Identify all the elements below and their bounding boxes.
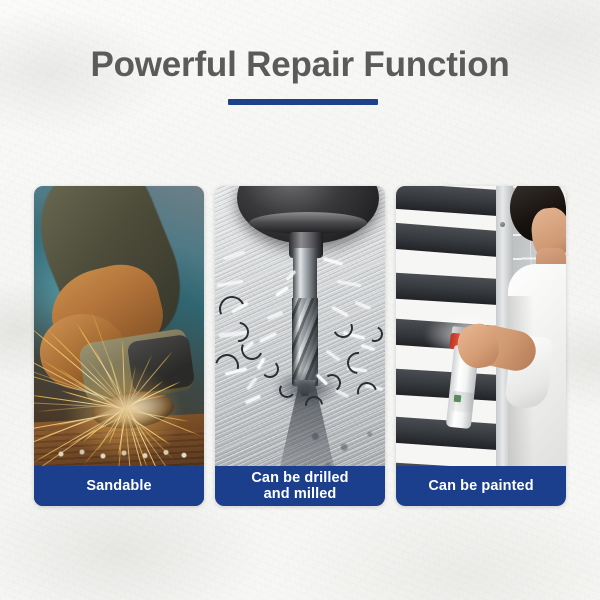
metal-swarf-curl xyxy=(215,292,248,325)
post-screw xyxy=(500,222,505,227)
metal-chip xyxy=(323,257,343,265)
metal-swarf-curl xyxy=(343,348,374,379)
spark-streaks xyxy=(34,186,204,506)
flying-metal-chips xyxy=(215,186,385,506)
caption-drilled-milled: Can be drilled and milled xyxy=(215,466,385,506)
metal-chip xyxy=(259,332,276,343)
feature-panel-row: Sandable Can be drilled and milled xyxy=(34,186,566,506)
metal-chip xyxy=(245,395,261,404)
product-feature-poster: Powerful Repair Function Sandable xyxy=(0,0,600,600)
caption-painted: Can be painted xyxy=(396,466,566,506)
wall-slat xyxy=(396,186,508,217)
metal-chip xyxy=(223,251,245,261)
feature-panel-sandable[interactable]: Sandable xyxy=(34,186,204,506)
metal-swarf-curl xyxy=(261,360,279,378)
metal-swarf-curl xyxy=(353,378,380,405)
spray-can-label-mark xyxy=(454,395,462,403)
metal-chip xyxy=(355,301,371,310)
page-title: Powerful Repair Function xyxy=(0,44,600,86)
metal-chip xyxy=(247,377,258,390)
metal-chip xyxy=(331,306,348,317)
metal-swarf-curl xyxy=(215,350,243,383)
metal-chip xyxy=(326,350,341,362)
metal-chip xyxy=(267,311,283,320)
feature-panel-drilled-milled[interactable]: Can be drilled and milled xyxy=(215,186,385,506)
metal-chip xyxy=(275,286,288,296)
photo-angle-grinder xyxy=(34,186,204,506)
photo-end-mill xyxy=(215,186,385,506)
metal-chip xyxy=(361,344,375,351)
metal-swarf-curl xyxy=(365,324,385,345)
wall-slat xyxy=(396,222,508,258)
metal-chip xyxy=(337,280,361,287)
metal-chip xyxy=(286,270,296,281)
metal-chip xyxy=(217,280,243,287)
wall-slat xyxy=(396,272,508,306)
title-underline-rule xyxy=(228,99,378,105)
metal-swarf-curl xyxy=(330,315,356,341)
metal-swarf-curl xyxy=(278,381,297,400)
photo-spray-painting xyxy=(396,186,566,506)
metal-swarf-curl xyxy=(301,392,326,417)
caption-sandable: Sandable xyxy=(34,466,204,506)
feature-panel-painted[interactable]: Can be painted xyxy=(396,186,566,506)
